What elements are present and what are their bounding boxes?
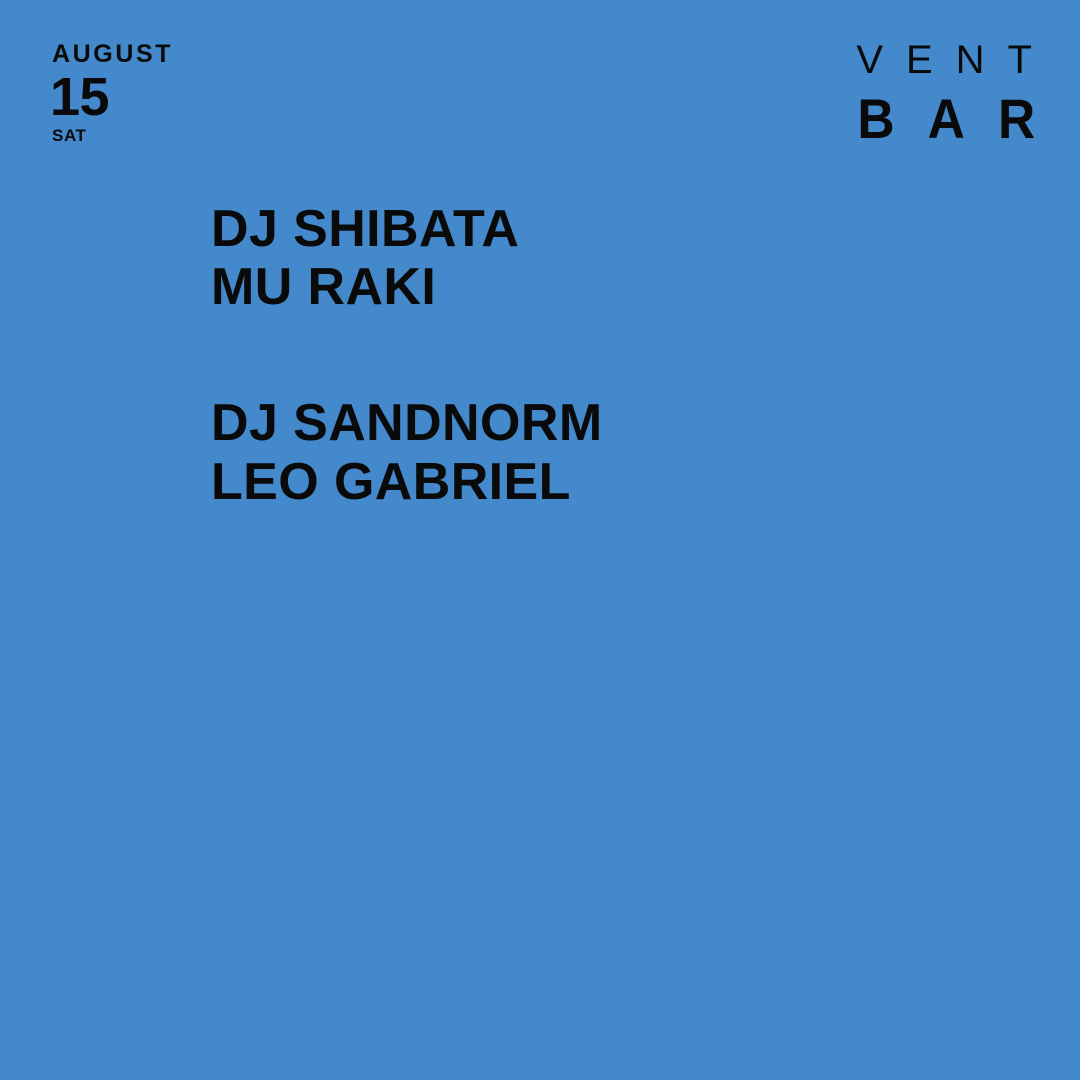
- event-date-block: AUGUST 15 SAT: [50, 42, 173, 144]
- venue-logo: VENT BAR: [839, 40, 1032, 141]
- lineup-artist: DJ SHIBATA: [211, 200, 603, 258]
- logo-line-vent: VENT: [839, 40, 1055, 80]
- lineup-group: DJ SANDNORM LEO GABRIEL: [211, 394, 603, 510]
- lineup-group: DJ SHIBATA MU RAKI: [211, 200, 603, 316]
- date-month: AUGUST: [52, 42, 173, 67]
- date-day: 15: [50, 76, 173, 118]
- event-flyer: AUGUST 15 SAT VENT BAR DJ SHIBATA MU RAK…: [0, 0, 1080, 1080]
- lineup-artist: MU RAKI: [211, 258, 603, 316]
- lineup-artist: DJ SANDNORM: [211, 394, 603, 452]
- date-weekday: SAT: [52, 127, 173, 144]
- logo-line-bar: BAR: [857, 98, 1068, 141]
- artist-lineup: DJ SHIBATA MU RAKI DJ SANDNORM LEO GABRI…: [211, 200, 603, 511]
- lineup-artist: LEO GABRIEL: [211, 453, 603, 511]
